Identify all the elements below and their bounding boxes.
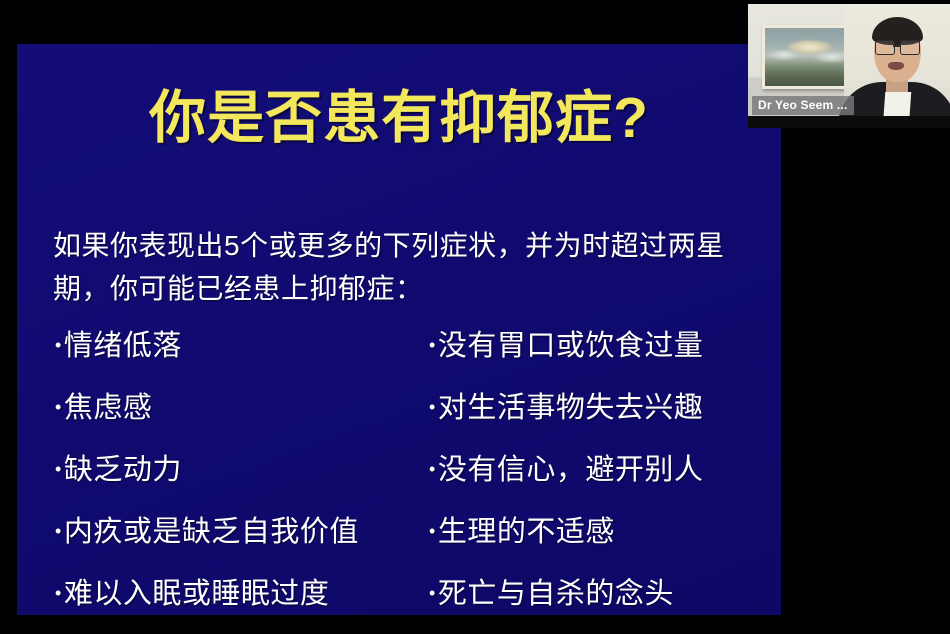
presentation-slide[interactable]: 你是否患有抑郁症? 如果你表现出5个或更多的下列症状，并为时超过两星期，你可能已… xyxy=(17,44,781,615)
bullet-icon: • xyxy=(429,336,436,354)
list-item: • 死亡与自杀的念头 xyxy=(429,580,779,615)
list-item-label: 缺乏动力 xyxy=(64,456,182,485)
painting-canvas xyxy=(765,28,851,86)
video-tile-bottom-strip xyxy=(748,116,950,128)
bullet-icon: • xyxy=(429,460,436,478)
list-item: • 对生活事物失去兴趣 xyxy=(429,394,779,456)
list-item: • 生理的不适感 xyxy=(429,518,779,580)
symptom-column-right: • 没有胃口或饮食过量 • 对生活事物失去兴趣 • 没有信心，避开别人 • 生理… xyxy=(429,332,779,615)
bullet-icon: • xyxy=(429,522,436,540)
list-item-label: 内疚或是缺乏自我价值 xyxy=(64,518,359,547)
list-item-label: 难以入眠或睡眠过度 xyxy=(64,580,330,609)
symptom-column-left: • 情绪低落 • 焦虑感 • 缺乏动力 • 内疚或是缺乏自我价值 • 难以入 xyxy=(55,332,435,615)
participant-name-label: Dr Yeo Seem ... xyxy=(752,96,854,115)
list-item: • 没有胃口或饮食过量 xyxy=(429,332,779,394)
list-item-label: 没有胃口或饮食过量 xyxy=(438,332,704,361)
symptom-list: • 情绪低落 • 焦虑感 • 缺乏动力 • 内疚或是缺乏自我价值 • 难以入 xyxy=(17,332,781,612)
glasses-lens-left xyxy=(875,40,895,55)
glasses-bridge xyxy=(893,45,900,47)
slide-title: 你是否患有抑郁症? xyxy=(17,89,781,149)
list-item: • 没有信心，避开别人 xyxy=(429,456,779,518)
bullet-icon: • xyxy=(55,584,62,602)
list-item: • 焦虑感 xyxy=(55,394,435,456)
list-item-label: 情绪低落 xyxy=(64,332,182,361)
list-item-label: 没有信心，避开别人 xyxy=(438,456,704,485)
bullet-icon: • xyxy=(55,522,62,540)
list-item-label: 死亡与自杀的念头 xyxy=(438,580,674,609)
list-item-label: 对生活事物失去兴趣 xyxy=(438,394,704,423)
list-item-label: 生理的不适感 xyxy=(438,518,615,547)
bullet-icon: • xyxy=(55,336,62,354)
list-item: • 内疚或是缺乏自我价值 xyxy=(55,518,435,580)
bullet-icon: • xyxy=(429,398,436,416)
framed-painting xyxy=(762,25,854,89)
list-item-label: 焦虑感 xyxy=(64,394,153,423)
bullet-icon: • xyxy=(429,584,436,602)
participant-video-tile[interactable]: Dr Yeo Seem ... xyxy=(748,4,950,128)
glasses-lens-right xyxy=(900,40,920,55)
glasses-icon xyxy=(874,40,921,53)
participant-person xyxy=(844,4,950,128)
person-mouth xyxy=(888,62,904,70)
list-item: • 情绪低落 xyxy=(55,332,435,394)
list-item: • 缺乏动力 xyxy=(55,456,435,518)
list-item: • 难以入眠或睡眠过度 xyxy=(55,580,435,615)
bullet-icon: • xyxy=(55,460,62,478)
screen-root: 你是否患有抑郁症? 如果你表现出5个或更多的下列症状，并为时超过两星期，你可能已… xyxy=(0,0,950,634)
slide-intro-paragraph: 如果你表现出5个或更多的下列症状，并为时超过两星期，你可能已经患上抑郁症： xyxy=(53,224,753,311)
bullet-icon: • xyxy=(55,398,62,416)
